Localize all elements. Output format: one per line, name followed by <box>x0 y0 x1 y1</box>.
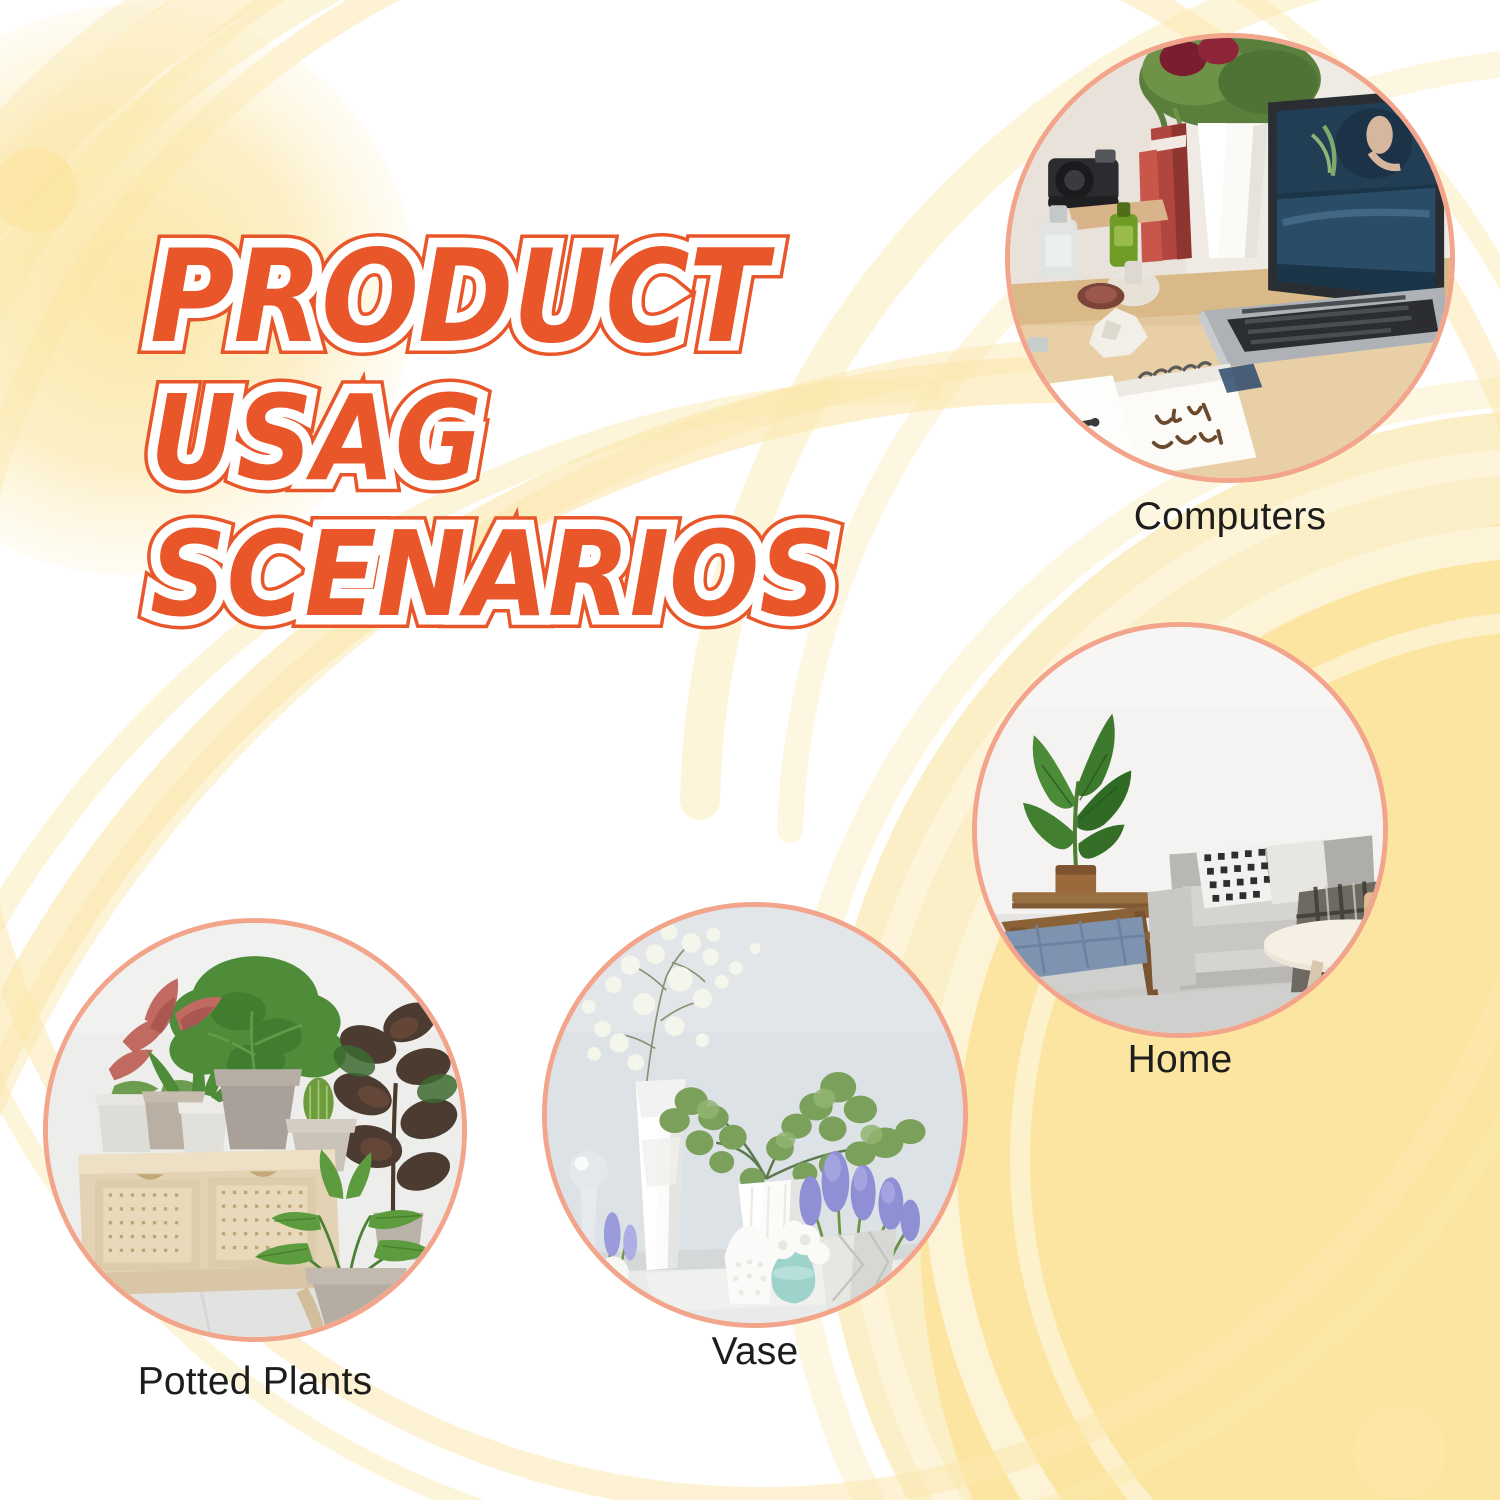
scenario-potted-plants-image[interactable] <box>43 918 467 1342</box>
title-line-3-fill: SCENARIOS <box>150 520 836 630</box>
scenario-vase[interactable]: Vase <box>542 902 968 1328</box>
scenario-computers-image[interactable] <box>1005 33 1455 483</box>
deco-bottom-right-dot <box>1354 1406 1446 1498</box>
title-line-3: SCENARIOS SCENARIOS SCENARIOS <box>150 520 950 660</box>
potted-plants-illustration <box>48 923 462 1337</box>
scenario-home[interactable]: Home <box>972 622 1388 1038</box>
title-line-1: PRODUCT PRODUCT PRODUCT <box>150 238 950 390</box>
scenario-vase-label: Vase <box>712 1330 799 1374</box>
scenario-home-image[interactable] <box>972 622 1388 1038</box>
poster-canvas: Computers <box>0 0 1500 1500</box>
title-line-1-fill: PRODUCT <box>150 238 766 357</box>
scenario-computers[interactable]: Computers <box>1005 33 1455 483</box>
title-line-2: USAG USAG USAG <box>150 384 950 524</box>
scenario-home-label: Home <box>1128 1038 1233 1082</box>
scenario-computers-label: Computers <box>1134 495 1327 539</box>
title-line-2-fill: USAG <box>150 384 482 494</box>
vase-still-life-illustration <box>547 907 963 1323</box>
living-room-illustration <box>977 627 1383 1033</box>
page-title: PRODUCT PRODUCT PRODUCT USAG USAG USAG S… <box>150 238 950 660</box>
scenario-vase-image[interactable] <box>542 902 968 1328</box>
scenario-potted-plants-label: Potted Plants <box>138 1360 373 1404</box>
desk-scene-illustration <box>1010 38 1450 478</box>
scenario-potted-plants[interactable]: Potted Plants <box>43 918 467 1342</box>
